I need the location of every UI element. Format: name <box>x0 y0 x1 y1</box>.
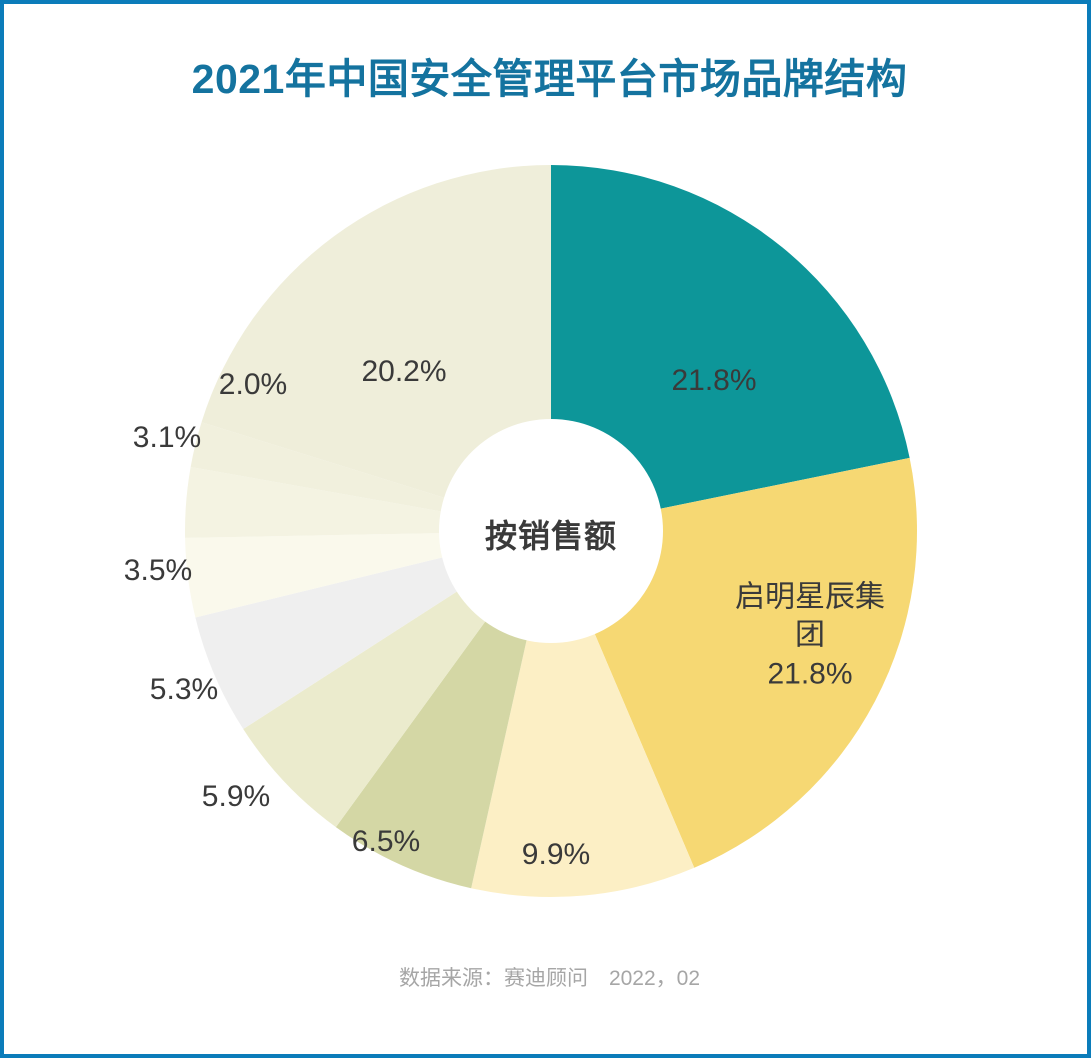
pie-slice[interactable] <box>336 531 551 888</box>
pie-slice[interactable] <box>185 531 551 618</box>
pie-slice[interactable] <box>191 422 551 531</box>
pie-slices <box>185 165 917 897</box>
slice-label: 9.9% <box>522 838 590 872</box>
pie-slice[interactable] <box>551 165 910 531</box>
slice-label: 5.9% <box>202 780 270 814</box>
slice-label: 21.8% <box>671 364 756 398</box>
slice-label: 启明星辰集团21.8% <box>730 578 890 693</box>
pie-slice[interactable] <box>185 467 551 538</box>
slice-label: 2.0% <box>219 368 287 402</box>
pie-slice[interactable] <box>471 531 694 897</box>
pie-slice[interactable] <box>243 531 551 827</box>
slice-label: 3.1% <box>133 421 201 455</box>
slice-label: 5.3% <box>150 673 218 707</box>
pie-slice[interactable] <box>202 165 551 531</box>
donut-chart: 21.8%启明星辰集团21.8%9.9%6.5%5.9%5.3%3.5%3.1%… <box>4 4 1091 1058</box>
slice-value: 21.8% <box>730 655 890 693</box>
slice-name: 启明星辰集团 <box>730 578 890 655</box>
page-title: 2021年中国安全管理平台市场品牌结构 <box>4 56 1091 103</box>
pie-slice[interactable] <box>551 458 917 868</box>
donut-chart-svg <box>4 4 1091 1058</box>
center-label: 按销售额 <box>485 511 617 557</box>
chart-page: 2021年中国安全管理平台市场品牌结构 21.8%启明星辰集团21.8%9.9%… <box>0 0 1091 1058</box>
pie-slice[interactable] <box>195 531 551 729</box>
donut-center-hole <box>439 419 663 643</box>
slice-label: 3.5% <box>124 554 192 588</box>
slice-label: 20.2% <box>361 355 446 389</box>
slice-label: 6.5% <box>352 825 420 859</box>
source-note: 数据来源：赛迪顾问 2022，02 <box>4 962 1091 992</box>
